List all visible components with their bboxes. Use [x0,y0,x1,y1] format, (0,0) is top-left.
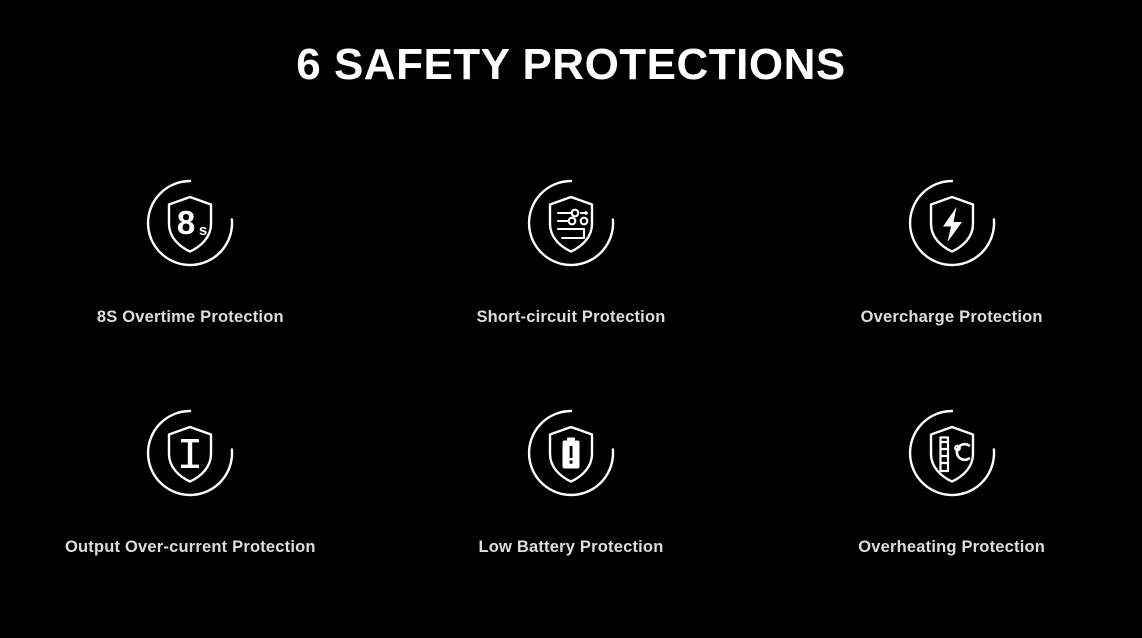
feature-label: Overcharge Protection [861,308,1043,327]
shield-battery-alert-icon [526,408,616,498]
shield-thermometer-icon [907,408,997,498]
feature-item-overheating: Overheating Protection [761,408,1142,638]
feature-label: 8S Overtime Protection [97,308,284,327]
feature-label: Short-circuit Protection [476,308,665,327]
shield-8s-icon: 8 s [145,178,235,268]
feature-item-low-battery: Low Battery Protection [381,408,762,638]
feature-label: Output Over-current Protection [65,538,316,557]
shield-current-i-icon [145,408,235,498]
feature-label: Overheating Protection [858,538,1045,557]
feature-item-8s-overtime: 8 s 8S Overtime Protection [0,178,381,408]
page-title: 6 SAFETY PROTECTIONS [0,42,1142,88]
shield-lightning-icon [907,178,997,268]
feature-item-overcharge: Overcharge Protection [761,178,1142,408]
safety-protections-banner: 6 SAFETY PROTECTIONS 8 s 8S Overtime Pro… [0,0,1142,628]
svg-text:s: s [199,222,207,239]
feature-item-output-over-current: Output Over-current Protection [0,408,381,638]
feature-item-short-circuit: Short-circuit Protection [381,178,762,408]
features-grid: 8 s 8S Overtime Protection [0,178,1142,638]
feature-label: Low Battery Protection [478,538,663,557]
shield-circuit-icon [526,178,616,268]
svg-text:8: 8 [177,204,195,241]
